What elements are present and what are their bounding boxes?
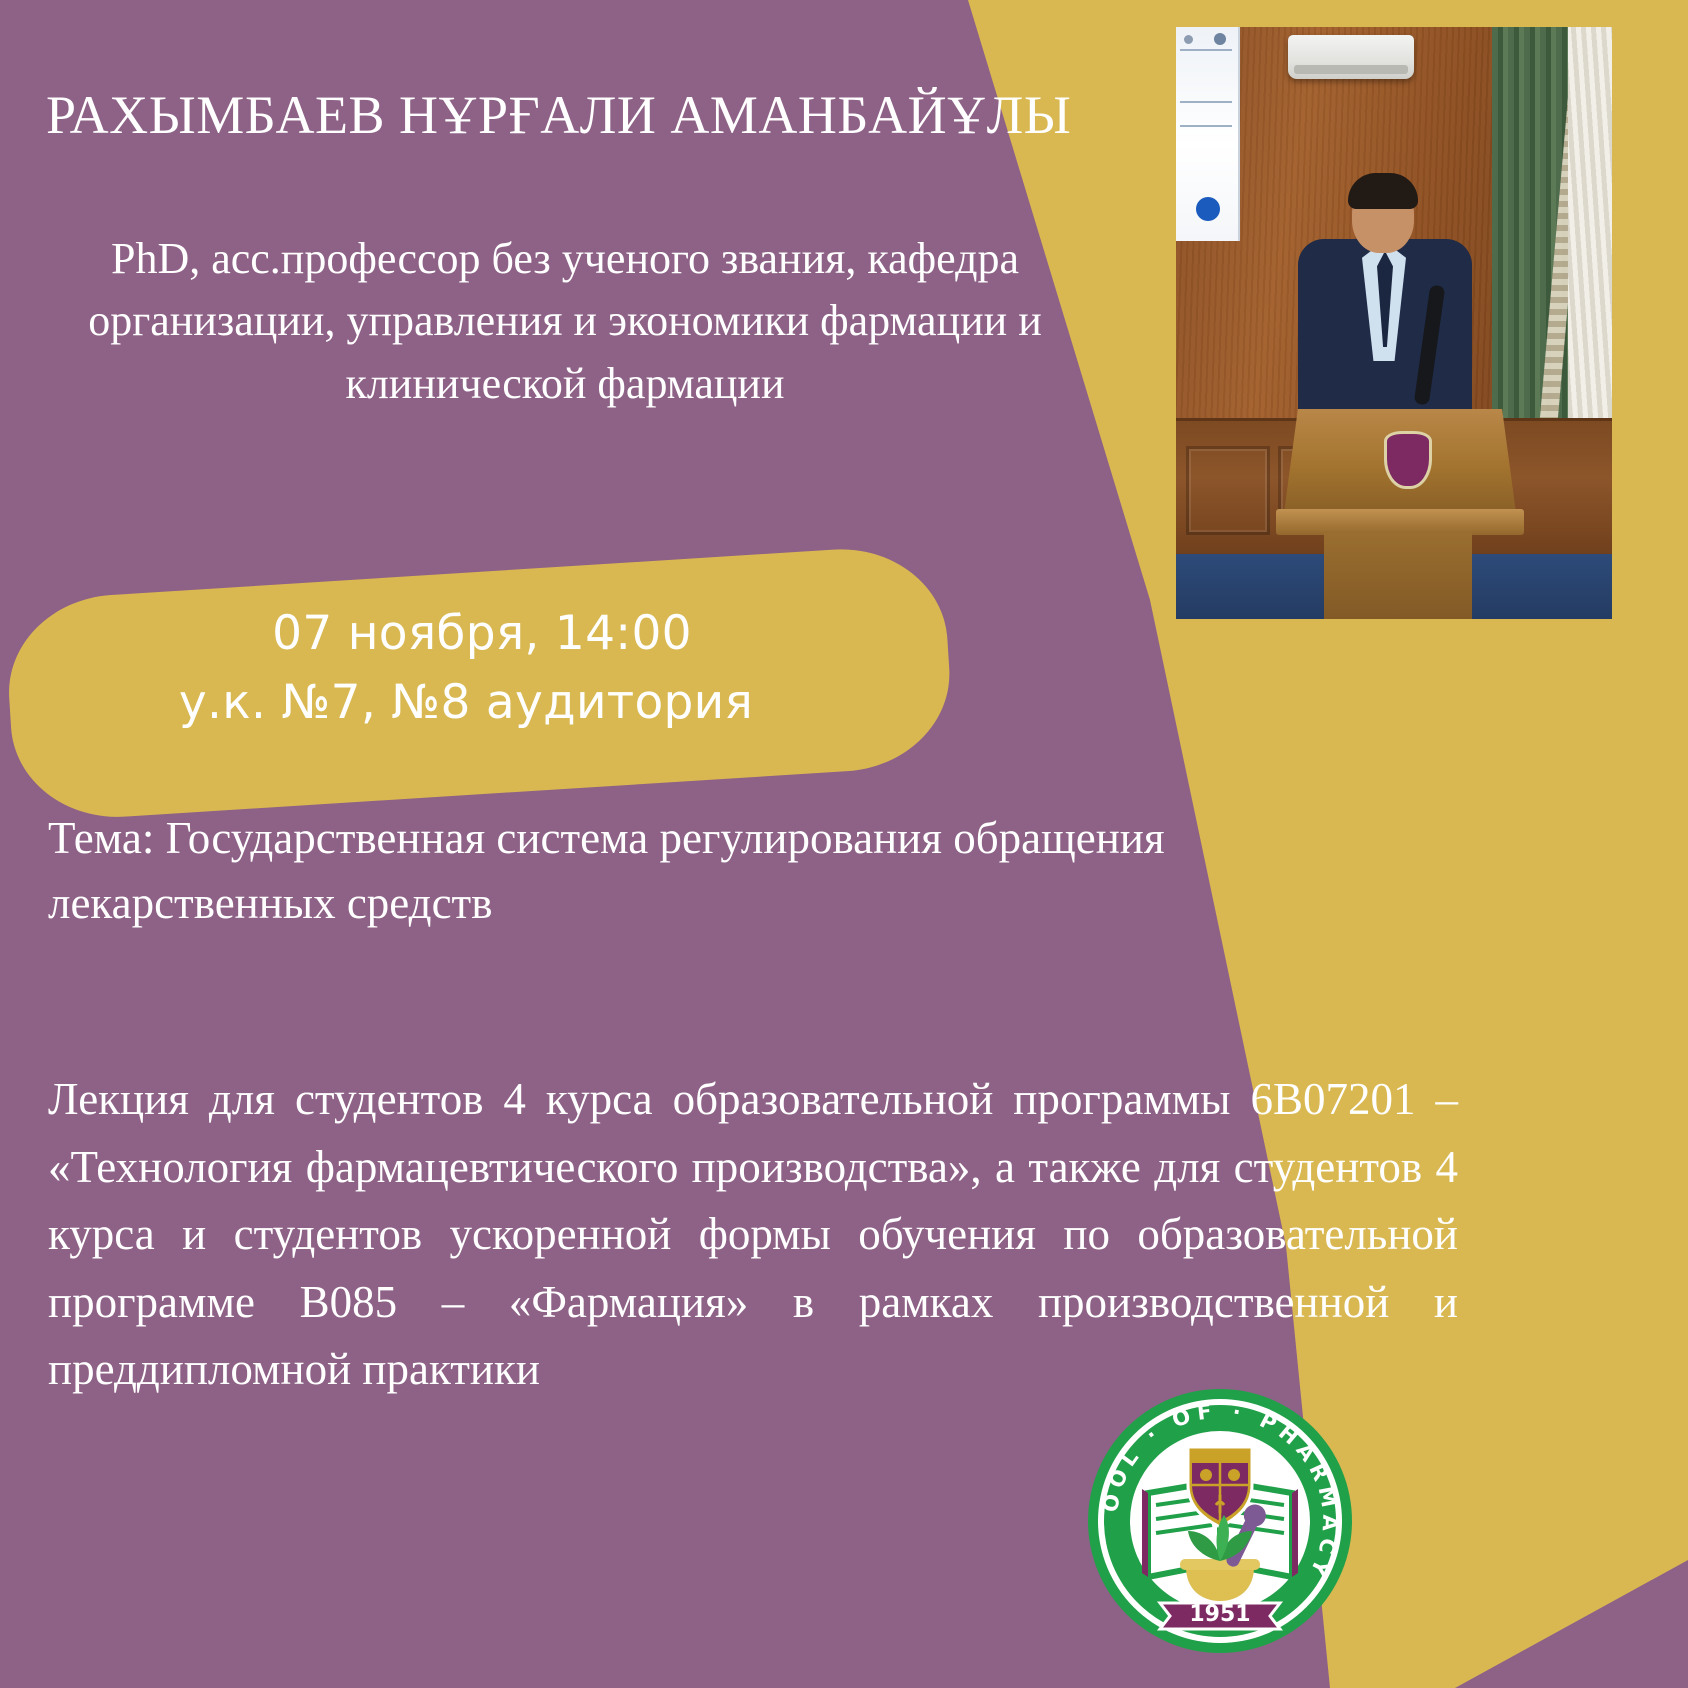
projection-screen-icon xyxy=(1176,27,1240,241)
lecture-audience-description: Лекция для студентов 4 курса образовател… xyxy=(48,1066,1458,1404)
logo-year-banner: 1951 xyxy=(1160,1602,1280,1629)
event-datetime: 07 ноября, 14:00 xyxy=(12,600,952,669)
school-of-pharmacy-logo: SCHOOL · OF · PHARMACY xyxy=(1084,1385,1356,1657)
event-details-badge: 07 ноября, 14:00 у.к. №7, №8 аудитория xyxy=(12,572,952,794)
speaker-photo xyxy=(1176,27,1612,619)
podium-crest-icon xyxy=(1384,431,1432,489)
logo-year: 1951 xyxy=(1189,1602,1250,1627)
air-conditioner-icon xyxy=(1288,35,1414,79)
speaker-hair xyxy=(1348,173,1418,209)
page-title: РАХЫМБАЕВ НҰРҒАЛИ АМАНБАЙҰЛЫ xyxy=(46,84,1146,146)
event-location: у.к. №7, №8 аудитория xyxy=(12,669,952,738)
podium-lip xyxy=(1276,509,1524,535)
speaker-position: PhD, асс.профессор без ученого звания, к… xyxy=(60,228,1070,415)
poster-canvas: РАХЫМБАЕВ НҰРҒАЛИ АМАНБАЙҰЛЫ PhD, асс.пр… xyxy=(0,0,1688,1688)
badge-text-group: 07 ноября, 14:00 у.к. №7, №8 аудитория xyxy=(12,600,952,737)
podium-base xyxy=(1324,533,1472,619)
lecture-topic: Тема: Государственная система регулирова… xyxy=(48,806,1278,936)
